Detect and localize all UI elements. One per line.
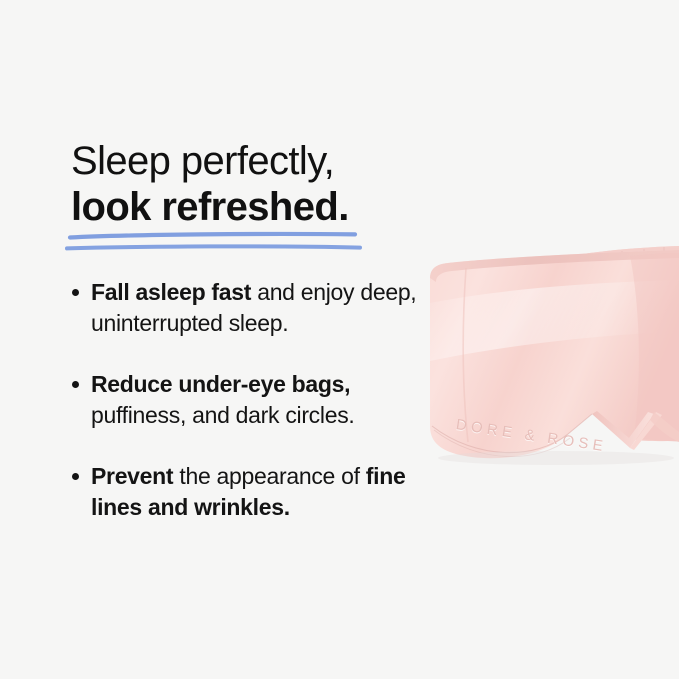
benefit-item-fine-lines: Prevent the appearance of fine lines and… <box>71 461 426 523</box>
benefit-emphasis: Prevent <box>91 463 173 489</box>
copy-column: Sleep perfectly, look refreshed. <box>71 138 421 230</box>
benefit-emphasis: Reduce under-eye bags, <box>91 371 350 397</box>
underline-stroke-bottom <box>67 246 360 248</box>
bullet-dot-icon <box>72 473 79 480</box>
product-image-sleep-mask: DORE & ROSE <box>416 236 679 476</box>
benefit-remainder: the appearance of <box>173 463 366 489</box>
page-title: Sleep perfectly, look refreshed. <box>71 138 421 230</box>
benefit-text: Reduce under-eye bags, puffiness, and da… <box>91 371 354 428</box>
benefit-remainder: puffiness, and dark circles. <box>91 402 354 428</box>
benefit-item-under-eye: Reduce under-eye bags, puffiness, and da… <box>71 369 426 431</box>
headline-line-2: look refreshed. <box>71 184 421 230</box>
benefits-list: Fall asleep fast and enjoy deep, uninter… <box>71 277 426 523</box>
promo-card: Sleep perfectly, look refreshed. Fall as… <box>0 0 679 679</box>
headline-underline-decoration <box>67 229 367 259</box>
underline-stroke-top <box>70 234 355 238</box>
benefit-emphasis: Fall asleep fast <box>91 279 251 305</box>
bullet-dot-icon <box>72 381 79 388</box>
benefit-item-sleep: Fall asleep fast and enjoy deep, uninter… <box>71 277 426 339</box>
bullet-dot-icon <box>72 289 79 296</box>
benefit-text: Fall asleep fast and enjoy deep, uninter… <box>91 279 416 336</box>
product-contact-shadow <box>438 451 674 465</box>
headline-line-1: Sleep perfectly, <box>71 138 421 184</box>
benefit-text: Prevent the appearance of fine lines and… <box>91 463 406 520</box>
